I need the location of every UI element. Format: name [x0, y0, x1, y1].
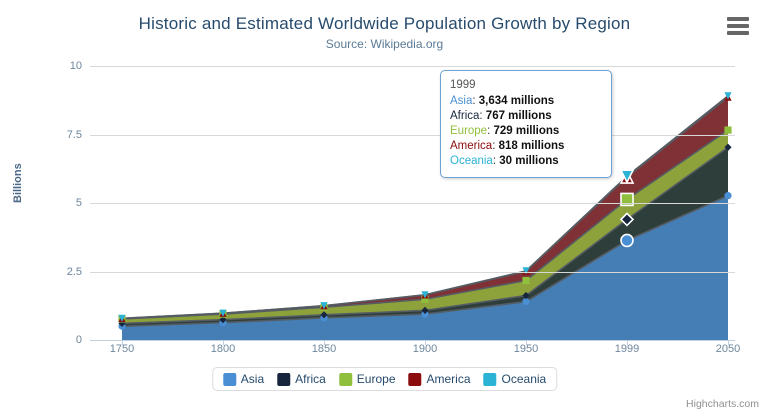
y-axis-tick-label: 5	[76, 197, 82, 209]
tooltip-row: America: 818 millions	[450, 139, 602, 154]
legend-label: Europe	[357, 372, 396, 386]
tooltip-series-name: America	[450, 140, 492, 152]
highcharts-container: Historic and Estimated Worldwide Populat…	[0, 0, 769, 416]
tooltip-series-name: Oceania	[450, 155, 493, 167]
tooltip-series-name: Europe	[450, 125, 487, 137]
gridline	[90, 66, 735, 67]
legend-item-asia[interactable]: Asia	[223, 372, 264, 386]
tooltip-series-value: 3,634 millions	[479, 95, 554, 107]
x-axis-tick-label: 2050	[716, 343, 740, 355]
menu-bar-1	[727, 17, 749, 21]
legend-item-europe[interactable]: Europe	[339, 372, 396, 386]
tooltip-row: Asia: 3,634 millions	[450, 94, 602, 109]
gridline	[90, 203, 735, 204]
tooltip-row: Africa: 767 millions	[450, 109, 602, 124]
x-axis-tick-label: 1999	[615, 343, 639, 355]
x-axis-tick-label: 1900	[413, 343, 437, 355]
x-axis-labels: 1750180018501900195019992050	[90, 343, 735, 361]
menu-bar-2	[727, 24, 749, 28]
credits-link[interactable]: Highcharts.com	[686, 398, 759, 410]
chart-legend: AsiaAfricaEuropeAmericaOceania	[212, 367, 557, 391]
gridline	[90, 135, 735, 136]
x-axis-tick-label: 1750	[110, 343, 134, 355]
chart-title: Historic and Estimated Worldwide Populat…	[0, 14, 769, 34]
legend-label: Asia	[241, 372, 264, 386]
chart-subtitle: Source: Wikipedia.org	[0, 37, 769, 51]
legend-swatch-icon	[484, 373, 497, 386]
tooltip-series-name: Asia	[450, 95, 472, 107]
legend-label: Oceania	[502, 372, 547, 386]
x-axis-tick-label: 1850	[312, 343, 336, 355]
legend-swatch-icon	[339, 373, 352, 386]
legend-swatch-icon	[223, 373, 236, 386]
data-point-asia-1999[interactable]	[621, 234, 633, 246]
tooltip-series-value: 30 millions	[499, 155, 558, 167]
tooltip-series-value: 729 millions	[493, 125, 559, 137]
tooltip-series-value: 767 millions	[486, 110, 552, 122]
plot-area	[90, 66, 735, 340]
y-axis-title: Billions	[12, 163, 24, 203]
data-point-europe-2050[interactable]	[724, 126, 731, 133]
gridline	[90, 272, 735, 273]
legend-item-africa[interactable]: Africa	[277, 372, 326, 386]
y-axis-tick-label: 10	[70, 60, 82, 72]
x-axis-tick-label: 1950	[514, 343, 538, 355]
legend-swatch-icon	[409, 373, 422, 386]
legend-swatch-icon	[277, 373, 290, 386]
tooltip-row: Oceania: 30 millions	[450, 154, 602, 169]
y-axis-labels: 02.557.510	[36, 66, 82, 340]
tooltip-header: 1999	[450, 78, 602, 93]
legend-label: America	[427, 372, 471, 386]
data-point-asia-2050[interactable]	[724, 192, 731, 199]
y-axis-tick-label: 7.5	[67, 129, 82, 141]
y-axis-tick-label: 0	[76, 334, 82, 346]
data-point-europe-1950[interactable]	[522, 277, 529, 284]
hamburger-menu-icon[interactable]	[727, 17, 749, 35]
legend-label: Africa	[295, 372, 326, 386]
menu-bar-3	[727, 31, 749, 35]
legend-item-america[interactable]: America	[409, 372, 471, 386]
y-axis-tick-label: 2.5	[67, 266, 82, 278]
x-axis-tick-label: 1800	[211, 343, 235, 355]
tooltip-series-name: Africa	[450, 110, 479, 122]
legend-item-oceania[interactable]: Oceania	[484, 372, 547, 386]
x-axis-line	[90, 340, 735, 341]
tooltip-series-value: 818 millions	[499, 140, 565, 152]
tooltip-row: Europe: 729 millions	[450, 124, 602, 139]
tooltip: 1999 Asia: 3,634 millionsAfrica: 767 mil…	[440, 70, 612, 178]
tooltip-rows: Asia: 3,634 millionsAfrica: 767 millions…	[450, 94, 602, 169]
